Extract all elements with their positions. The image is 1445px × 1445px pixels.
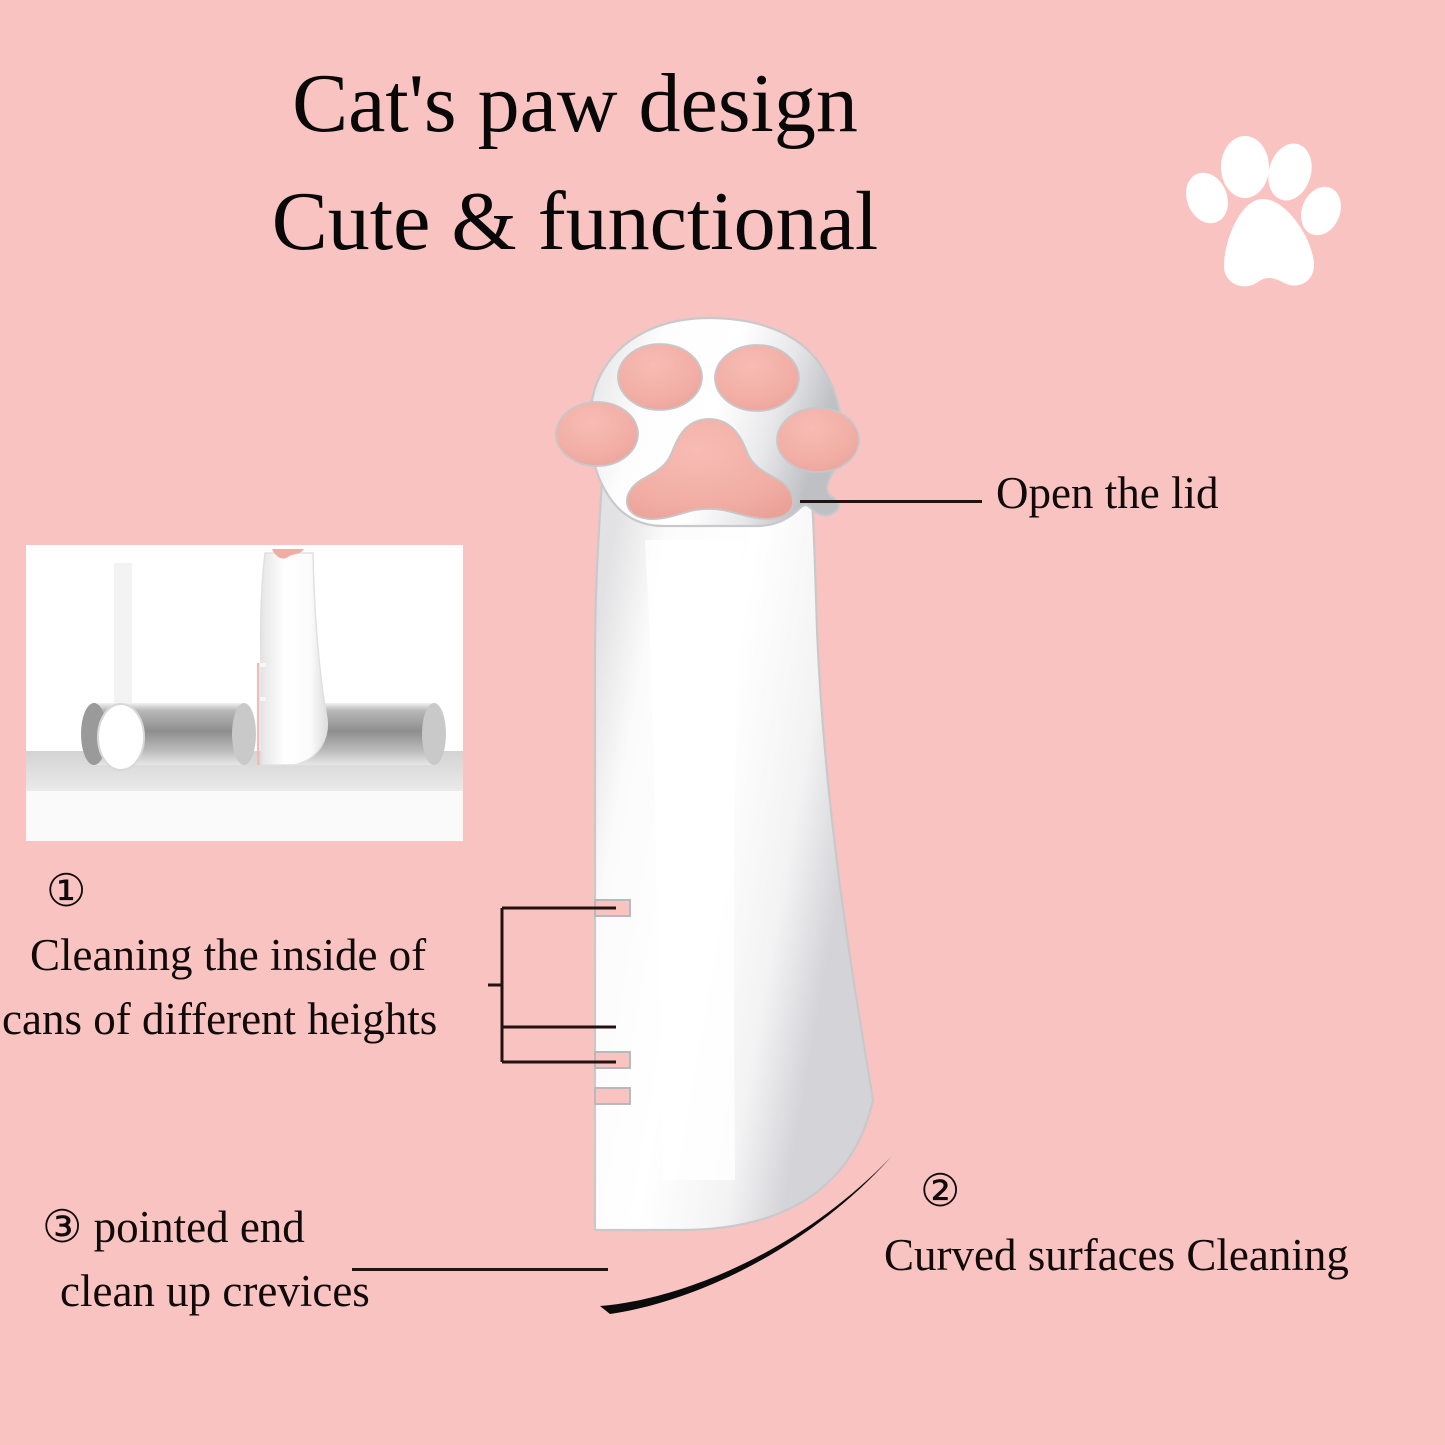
step-2-line-1: Curved surfaces Cleaning <box>884 1224 1349 1288</box>
inset-photo-cans <box>26 545 463 841</box>
product-infographic: Cat's paw design Cute & functional <box>0 0 1445 1445</box>
page-title-line-2: Cute & functional <box>0 180 1150 264</box>
spatula-head-left <box>98 704 144 770</box>
leader-line-open-lid <box>800 500 982 503</box>
bracket-leader-step-1 <box>488 905 618 1065</box>
step-1-line-2: cans of different heights <box>2 988 437 1052</box>
callout-step-1: ① Cleaning the inside of cans of differe… <box>24 860 437 1052</box>
paw-print-icon <box>1178 132 1348 297</box>
step-2-number: ② <box>920 1166 960 1216</box>
callout-step-2: ② Curved surfaces Cleaning <box>884 1160 1349 1288</box>
arc-marker-step-2 <box>596 1148 906 1318</box>
toe-pad-upper-right <box>715 345 799 411</box>
step-1-number: ① <box>46 866 86 916</box>
callout-open-lid-text: Open the lid <box>996 468 1218 518</box>
notch-lower <box>595 1088 630 1104</box>
toe-pad-outer-right <box>777 408 859 472</box>
callout-step-3: ③ pointed end clean up crevices <box>42 1196 370 1324</box>
tool-body <box>556 318 873 1230</box>
toe-pad-outer-left <box>556 402 638 466</box>
leader-line-step-3 <box>352 1268 608 1271</box>
callout-open-lid: Open the lid <box>996 462 1218 526</box>
step-3-line-2: clean up crevices <box>60 1260 370 1324</box>
page-title-line-1: Cat's paw design <box>0 62 1150 146</box>
step-3-number: ③ <box>42 1202 82 1252</box>
step-3-line-1: pointed end <box>94 1202 305 1252</box>
step-1-line-1: Cleaning the inside of <box>30 924 437 988</box>
toe-pad-upper-left <box>618 344 702 410</box>
